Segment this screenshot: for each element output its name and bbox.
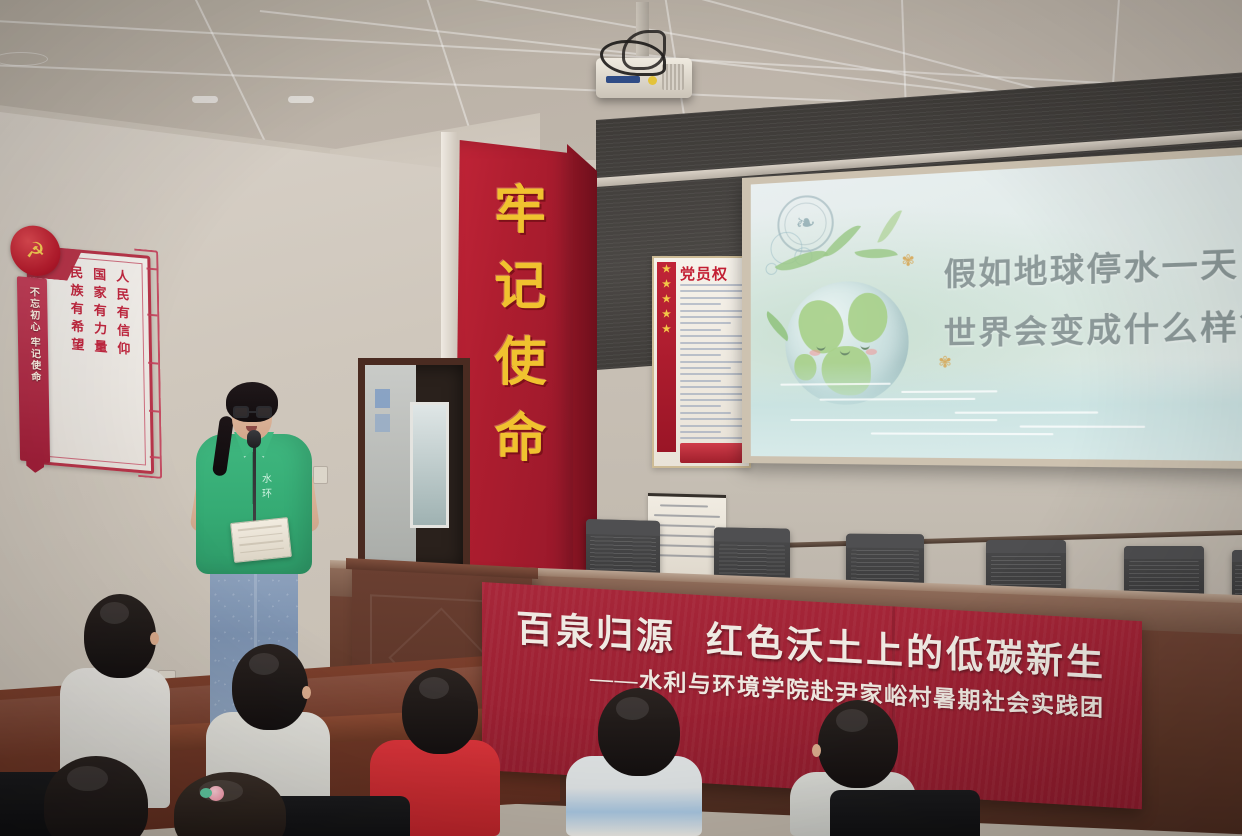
sleeve-cuff [288,96,314,103]
slide-line-1: 假如地球停水一天 [944,233,1242,306]
corridor-window [410,402,449,528]
audience-seat[interactable] [830,790,980,836]
glasses-icon [233,406,272,418]
audience-seat[interactable] [270,796,410,836]
sleeve-cuff [192,96,218,103]
poster-ribbon: 不忘初心 牢记使命 [17,276,50,463]
hammer-sickle-glyph: ☭ [21,237,49,265]
corridor-view [365,365,416,569]
notice-poster-body [680,284,746,440]
poster-line-2: 国家有力量 [89,267,111,455]
shirt-logo: 水环 [262,470,273,500]
poster-star-strip: ★ ★ ★ ★ ★ [657,262,676,452]
star-icon: ★ [657,322,676,337]
pillar-slogan-text: 牢记使命 [471,182,555,486]
ceiling-projector [596,36,692,106]
banner-headline-part1: 百泉归源 [516,609,676,660]
poster-slogan-lines: 人民有信仰 国家有力量 民族有希望 [59,264,142,457]
star-icon: ★ [657,307,676,322]
party-wall-poster: 人民有信仰 国家有力量 民族有希望 不忘初心 牢记使命 ☭ [6,215,160,479]
poster-line-3: 民族有希望 [66,265,88,453]
butterfly-icon: ✾ [901,251,914,270]
party-member-rights-poster: ★ ★ ★ ★ ★ 党员权 [652,256,751,468]
projector-label [606,76,640,83]
hair-tie-icon [208,786,224,801]
slide-line-2: 世界会变成什么样？ [944,296,1242,364]
photo-scene: 人民有信仰 国家有力量 民族有希望 不忘初心 牢记使命 ☭ 牢记使命 ★ ★ ★… [0,0,1242,836]
notice-poster-footer [680,443,746,463]
side-doorway[interactable] [358,358,470,576]
notice-poster-title: 党员权 [680,263,747,284]
star-icon: ★ [657,262,676,277]
hammer-sickle-icon: ☭ [10,224,61,278]
poster-line-1: 人民有信仰 [112,269,134,457]
projection-screen: ❧ [742,143,1242,470]
corridor-poster-icon [375,414,391,432]
star-icon: ★ [657,292,676,307]
microphone-icon [247,430,261,448]
poster-ribbon-text: 不忘初心 牢记使命 [26,286,40,383]
slide-content: ❧ [751,151,1242,461]
slide-text-block: 假如地球停水一天 世界会变成什么样？ [944,233,1242,365]
pillar-slogan-banner: 牢记使命 [455,140,595,590]
banner-headline-part2: 红色沃土上的低碳新生 [706,620,1106,685]
wall-outlet-icon [313,466,328,484]
water-splash-illustration [751,356,1242,461]
corridor-poster-icon [375,389,391,407]
slide-logo-glyph: ❧ [795,208,815,238]
presenter-notebook [230,517,292,563]
star-icon: ★ [657,277,676,292]
ceiling-vent-icon [0,52,48,66]
